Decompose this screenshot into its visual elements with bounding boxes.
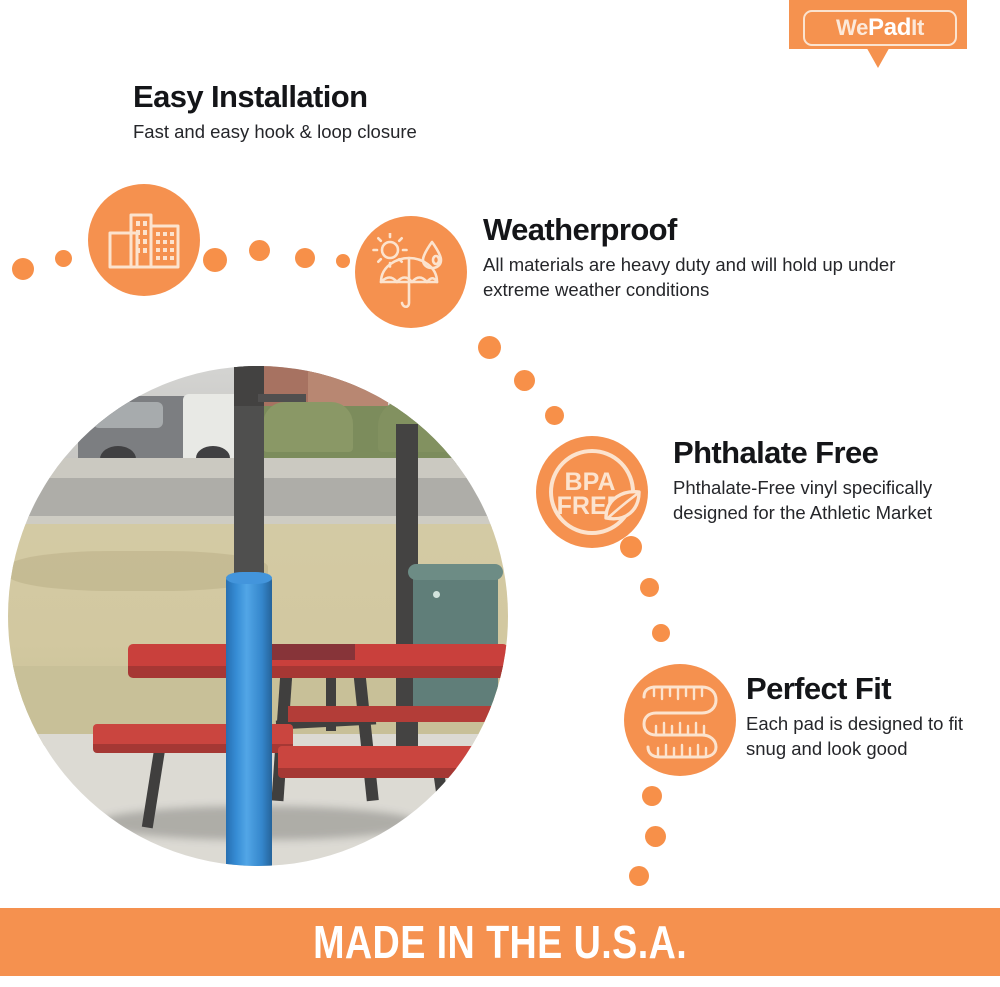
feature-description-perfect-fit: Each pad is designed to fit snug and loo… (746, 712, 996, 761)
feature-description-phthalate-free: Phthalate-Free vinyl specifically design… (673, 476, 973, 525)
trail-dot (203, 248, 227, 272)
logo-wordmark: WePadIt (836, 16, 924, 40)
trail-dot (55, 250, 72, 267)
feature-block-easy-installation: Easy Installation Fast and easy hook & l… (133, 80, 653, 145)
measuring-tape-icon (636, 677, 724, 763)
feature-title-weatherproof: Weatherproof (483, 213, 913, 247)
logo-text-it: It (911, 15, 924, 40)
logo-outline-box: WePadIt (803, 10, 957, 46)
feature-title-easy-installation: Easy Installation (133, 80, 653, 114)
feature-icon-phthalate-free: BPA FREE (536, 436, 648, 548)
logo-text-pad: Pad (868, 14, 911, 41)
logo-text-we: We (836, 15, 868, 40)
made-in-usa-text: MADE IN THE U.S.A. (313, 915, 687, 969)
trail-dot (652, 624, 670, 642)
trail-dot (514, 370, 535, 391)
sun-umbrella-rain-icon (370, 233, 452, 311)
feature-description-weatherproof: All materials are heavy duty and will ho… (483, 253, 913, 302)
trail-dot (295, 248, 315, 268)
trail-dot (12, 258, 34, 280)
brand-logo: WePadIt (789, 0, 967, 68)
feature-title-phthalate-free: Phthalate Free (673, 436, 973, 470)
trail-dot (545, 406, 564, 425)
trail-dot (336, 254, 350, 268)
feature-icon-weatherproof (355, 216, 467, 328)
feature-icon-easy-installation (88, 184, 200, 296)
trail-dot (629, 866, 649, 886)
photo-overlay (8, 366, 508, 866)
trail-dot (249, 240, 270, 261)
feature-icon-perfect-fit (624, 664, 736, 776)
infographic-canvas: WePadIt Easy Installation Fast and easy … (0, 0, 1000, 987)
buildings-icon (107, 209, 181, 271)
trail-dot (645, 826, 666, 847)
feature-block-perfect-fit: Perfect Fit Each pad is designed to fit … (746, 672, 996, 761)
feature-description-easy-installation: Fast and easy hook & loop closure (133, 120, 653, 145)
product-photo (8, 366, 508, 866)
trail-dot (642, 786, 662, 806)
feature-block-phthalate-free: Phthalate Free Phthalate-Free vinyl spec… (673, 436, 973, 525)
bpa-free-leaf-icon: BPA FREE (540, 440, 644, 544)
feature-title-perfect-fit: Perfect Fit (746, 672, 996, 706)
trail-dot (478, 336, 501, 359)
made-in-usa-banner: MADE IN THE U.S.A. (0, 908, 1000, 976)
trail-dot (640, 578, 659, 597)
feature-block-weatherproof: Weatherproof All materials are heavy dut… (483, 213, 913, 302)
